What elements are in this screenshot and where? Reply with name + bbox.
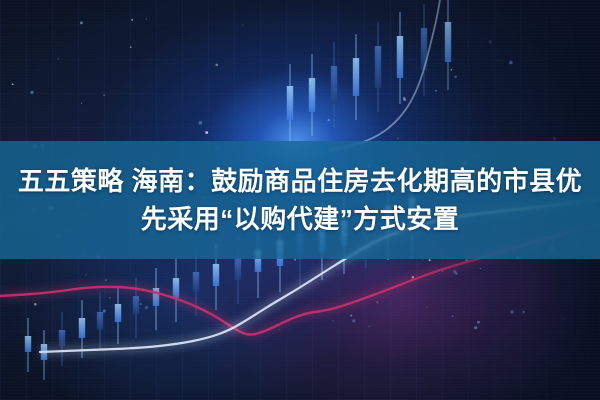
- sparkle-dot: [497, 60, 498, 61]
- sparkle-dot: [477, 321, 480, 324]
- sparkle-dot: [105, 279, 107, 281]
- candlestick-body: [115, 304, 121, 322]
- sparkle-dot: [103, 94, 105, 96]
- candlestick-body: [79, 318, 85, 338]
- candlestick-body: [213, 264, 219, 286]
- sparkle-dot: [376, 301, 378, 303]
- candlestick-body: [153, 288, 159, 306]
- sparkle-dot: [103, 310, 106, 313]
- sparkle-dot: [109, 297, 110, 298]
- candlestick-body: [445, 22, 451, 62]
- candlestick-body: [97, 312, 103, 330]
- candlestick-body: [173, 278, 179, 298]
- sparkle-dot: [80, 21, 83, 24]
- candlestick-body: [309, 78, 315, 112]
- sparkle-dot: [310, 80, 311, 81]
- sparkle-dot: [412, 276, 414, 278]
- sparkle-dot: [328, 119, 330, 121]
- sparkle-dot: [146, 18, 147, 19]
- headline-line-2: 先采用“以购代建”方式安置: [141, 200, 460, 238]
- sparkle-dot: [86, 274, 87, 275]
- sparkle-dot: [58, 58, 59, 59]
- sparkle-dot: [441, 270, 443, 272]
- candlestick-body: [133, 296, 139, 314]
- headline-line-1: 五五策略 海南：鼓励商品住房去化期高的市县优: [18, 162, 582, 200]
- candlestick-body: [397, 36, 403, 78]
- candlestick-body: [41, 344, 47, 360]
- sparkle-dot: [275, 300, 278, 303]
- sparkle-dot: [130, 46, 132, 48]
- sparkle-dot: [553, 137, 556, 140]
- sparkle-dot: [429, 259, 431, 261]
- sparkle-dot: [166, 274, 167, 275]
- candlestick-body: [353, 58, 359, 96]
- sparkle-dot: [403, 98, 406, 101]
- sparkle-dot: [489, 40, 492, 43]
- candlestick-body: [235, 258, 241, 280]
- sparkle-dot: [480, 268, 481, 269]
- candlestick-body: [193, 272, 199, 292]
- headline-band: 五五策略 海南：鼓励商品住房去化期高的市县优 先采用“以购代建”方式安置: [0, 141, 600, 259]
- sparkle-dot: [403, 97, 406, 100]
- sparkle-dot: [205, 131, 208, 134]
- sparkle-dot: [454, 75, 457, 78]
- sparkle-dot: [474, 326, 477, 329]
- sparkle-dot: [397, 126, 398, 127]
- sparkle-dot: [140, 303, 142, 305]
- sparkle-dot: [294, 259, 296, 261]
- sparkle-dot: [453, 270, 456, 273]
- sparkle-dot: [465, 259, 468, 262]
- sparkle-dot: [427, 307, 428, 308]
- sparkle-dot: [81, 103, 82, 104]
- candlestick-body: [25, 336, 31, 352]
- sparkle-dot: [435, 90, 437, 92]
- sparkle-dot: [350, 315, 352, 317]
- sparkle-dot: [34, 303, 37, 306]
- sparkle-dot: [397, 138, 398, 139]
- banner-image: 五五策略 海南：鼓励商品住房去化期高的市县优 先采用“以购代建”方式安置: [0, 0, 600, 400]
- candlestick-body: [287, 86, 293, 120]
- candlestick-body: [331, 66, 337, 104]
- sparkle-dot: [321, 260, 322, 261]
- candlestick-body: [421, 28, 427, 70]
- sparkle-dot: [509, 61, 513, 65]
- sparkle-dot: [131, 19, 133, 21]
- sparkle-dot: [279, 329, 280, 330]
- sparkle-dot: [563, 318, 566, 321]
- sparkle-dot: [522, 311, 524, 313]
- upper-curve-line: [330, 0, 440, 150]
- sparkle-dot: [332, 320, 334, 322]
- candlestick-body: [59, 330, 65, 346]
- sparkle-dot: [12, 83, 14, 85]
- sparkle-dot: [368, 326, 370, 328]
- sparkle-dot: [510, 310, 513, 313]
- sparkle-dot: [30, 91, 33, 94]
- sparkle-dot: [199, 121, 203, 125]
- sparkle-dot: [215, 64, 218, 67]
- sparkle-dot: [310, 281, 311, 282]
- candlestick-body: [375, 46, 381, 88]
- sparkle-dot: [145, 306, 148, 309]
- sparkle-dot: [455, 272, 457, 274]
- sparkle-dot: [450, 69, 452, 71]
- sparkle-dot: [352, 319, 355, 322]
- sparkle-dot: [242, 24, 243, 25]
- sparkle-dot: [452, 315, 454, 317]
